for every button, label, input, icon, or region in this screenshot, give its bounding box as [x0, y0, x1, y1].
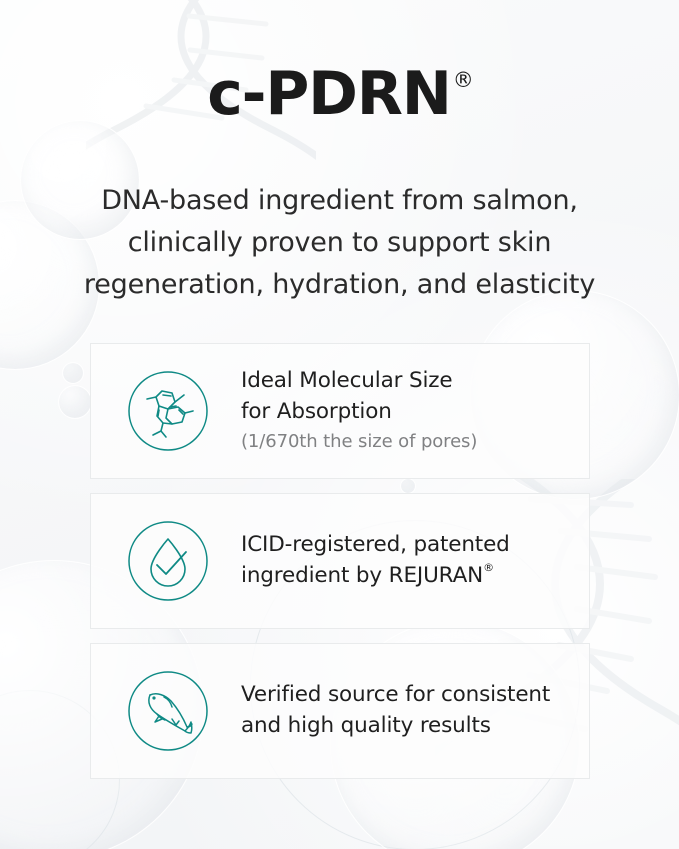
feature-title-line-text: ingredient by REJURAN	[241, 563, 483, 588]
registered-trademark-mark: ®	[453, 68, 474, 92]
feature-card-subtext: (1/670th the size of pores)	[241, 429, 589, 455]
fish-icon	[126, 669, 210, 753]
page-subtitle: DNA-based ingredient from salmon, clinic…	[62, 180, 617, 306]
feature-title-line: Ideal Molecular Size	[241, 366, 589, 397]
molecule-icon	[126, 369, 210, 453]
water-drop-check-icon	[126, 519, 210, 603]
feature-card-list: Ideal Molecular Size for Absorption (1/6…	[90, 343, 590, 779]
feature-title-line: ingredient by REJURAN®	[241, 561, 589, 592]
feature-card-text: Ideal Molecular Size for Absorption (1/6…	[241, 366, 589, 455]
feature-card-verified-source: Verified source for consistent and high …	[90, 643, 590, 779]
feature-card-title: Verified source for consistent and high …	[241, 680, 589, 741]
feature-card-text: ICID-registered, patented ingredient by …	[241, 530, 589, 591]
feature-title-line: for Absorption	[241, 397, 589, 428]
subtitle-line: regeneration, hydration, and elasticity	[62, 264, 617, 306]
subtitle-line: clinically proven to support skin	[62, 222, 617, 264]
feature-title-line: and high quality results	[241, 711, 589, 742]
product-info-panel: c-PDRN® DNA-based ingredient from salmon…	[0, 0, 679, 849]
feature-card-title: ICID-registered, patented ingredient by …	[241, 530, 589, 591]
feature-card-icid-registered: ICID-registered, patented ingredient by …	[90, 493, 590, 629]
feature-card-molecular-size: Ideal Molecular Size for Absorption (1/6…	[90, 343, 590, 479]
feature-card-title: Ideal Molecular Size for Absorption	[241, 366, 589, 427]
page-title: c-PDRN®	[0, 64, 679, 124]
feature-card-text: Verified source for consistent and high …	[241, 680, 589, 741]
page-title-text: c-PDRN	[207, 59, 450, 129]
feature-title-line: ICID-registered, patented	[241, 530, 589, 561]
feature-title-line: Verified source for consistent	[241, 680, 589, 711]
registered-trademark-mark: ®	[483, 561, 494, 574]
subtitle-line: DNA-based ingredient from salmon,	[62, 180, 617, 222]
